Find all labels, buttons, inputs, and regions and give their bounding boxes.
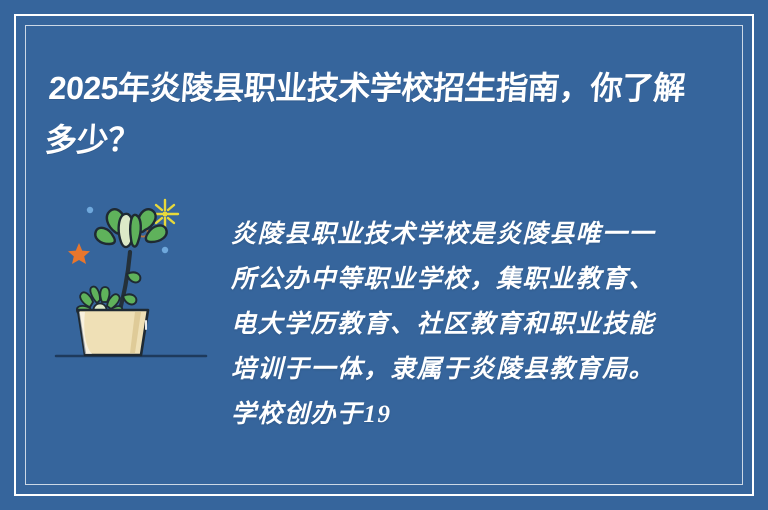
flower-pot [78,310,148,355]
potted-plant-illustration [52,190,212,365]
page-title: 2025年炎陵县职业技术学校招生指南，你了解多少？ [43,62,690,166]
blue-dot-upper-icon [87,207,93,213]
blue-dot-right-icon [162,247,168,253]
plant-top-leaves [95,209,166,247]
body-paragraph: 炎陵县职业技术学校是炎陵县唯一一所公办中等职业学校，集职业教育、电大学历教育、社… [231,212,656,437]
poster-canvas: 2025年炎陵县职业技术学校招生指南，你了解多少？ [0,0,768,510]
orange-star-icon [68,243,90,264]
